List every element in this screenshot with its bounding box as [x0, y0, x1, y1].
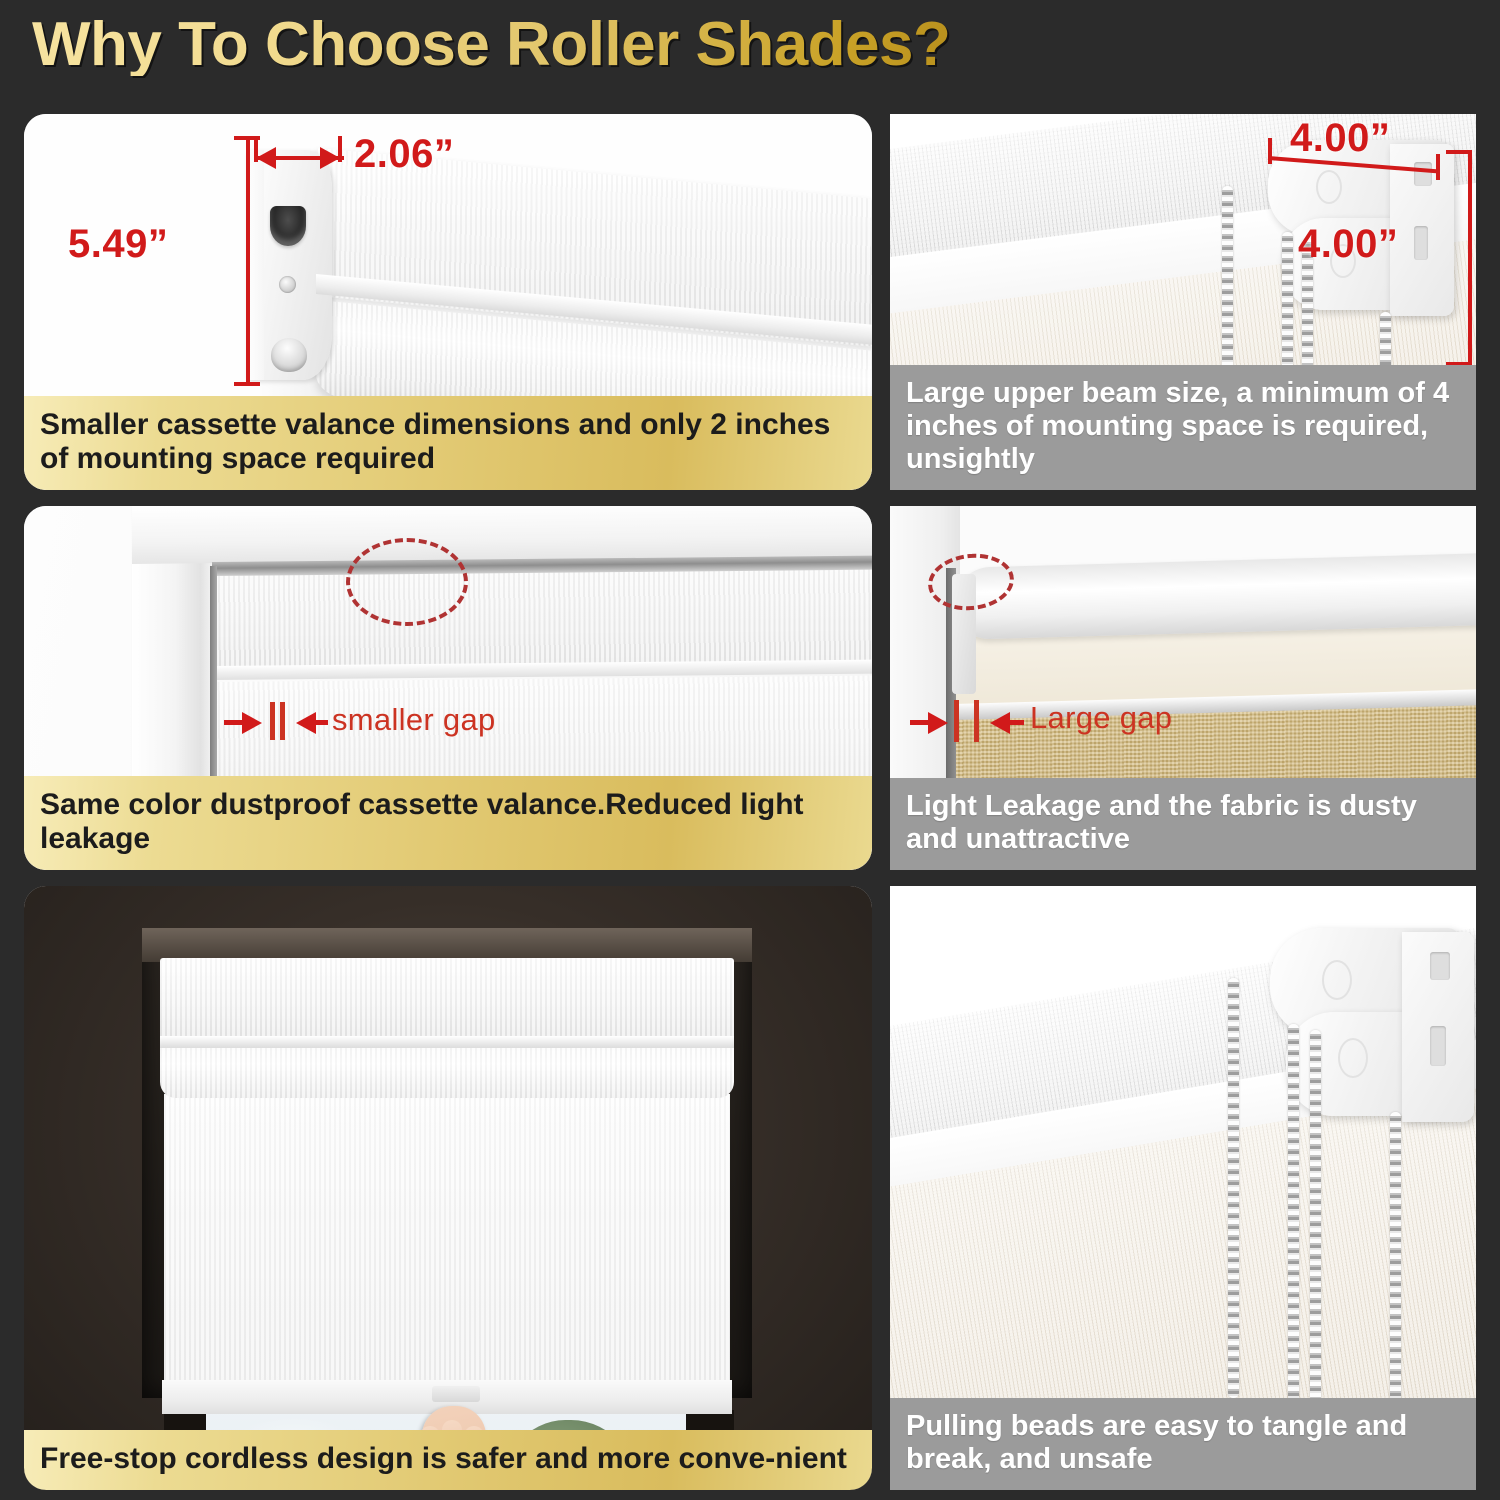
beads-bracket-mark-upper	[1322, 960, 1352, 1000]
panel-1-smaller-cassette[interactable]: 2.06” 5.49” Smaller cassette valance dim…	[24, 114, 872, 490]
page-title: Why To Choose Roller Shades?	[32, 14, 950, 76]
shade-valance	[160, 958, 734, 1040]
gap4-arrow-right	[990, 712, 1010, 734]
dimension2-height-label: 4.00”	[1298, 222, 1398, 267]
gap-label-smaller: smaller gap	[332, 702, 496, 738]
bead-chain-4	[1390, 1112, 1401, 1402]
highlight-circle-icon	[346, 538, 468, 626]
gap-tick-left	[270, 702, 275, 740]
gap-tick-right	[280, 702, 285, 740]
gap-arrow-right	[296, 712, 316, 734]
panel-1-caption: Smaller cassette valance dimensions and …	[24, 396, 872, 490]
shade-pull-tab	[432, 1386, 480, 1402]
gap4-tick-right	[974, 700, 979, 742]
panel-cell-5: Free-stop cordless design is safer and m…	[0, 880, 884, 1500]
beads-bracket-mark-lower	[1338, 1038, 1368, 1078]
shade-valance-lip	[160, 1036, 734, 1048]
valance-screw-lower	[271, 338, 307, 372]
bead-chain-1	[1228, 978, 1239, 1398]
panel-6-pulling-beads[interactable]: Pulling beads are easy to tangle and bre…	[890, 886, 1476, 1490]
shade-fabric	[164, 1094, 730, 1386]
valance-screw-upper	[279, 276, 296, 293]
dim-arrow-width-right	[320, 147, 340, 169]
panel-3-caption: Same color dustproof cassette valance.Re…	[24, 776, 872, 870]
panel-5-image	[24, 886, 872, 1490]
shade-roll	[160, 1046, 734, 1098]
panel-cell-3: smaller gap Same color dustproof cassett…	[0, 500, 884, 880]
panel-cell-4: Large gap Light Leakage and the fabric i…	[884, 500, 1500, 880]
panel-4-caption: Light Leakage and the fabric is dusty an…	[890, 778, 1476, 870]
dim2-tick-width-right	[1436, 154, 1440, 180]
gap-arrow-left-tail	[224, 720, 246, 725]
valance-cord-hole	[270, 206, 306, 246]
panel-6-caption: Pulling beads are easy to tangle and bre…	[890, 1398, 1476, 1490]
window-shade-upper	[214, 566, 872, 674]
bead-chain-2	[1288, 1024, 1299, 1402]
panel-3-smaller-gap[interactable]: smaller gap Same color dustproof cassett…	[24, 506, 872, 870]
gap-label-large: Large gap	[1030, 700, 1172, 736]
title-bar: Why To Choose Roller Shades?	[0, 0, 1500, 108]
dimension-height-label: 5.49”	[68, 222, 168, 267]
panel-cell-6: Pulling beads are easy to tangle and bre…	[884, 880, 1500, 1500]
dim-arrow-width-left	[256, 147, 276, 169]
bead-chain-3	[1310, 1030, 1321, 1402]
gap4-arrow-left-tail	[910, 720, 932, 725]
window-frame-horizontal	[132, 506, 872, 564]
gap-arrow-right-tail	[314, 720, 328, 725]
leak-roller-tube	[954, 552, 1476, 640]
panel-2-large-beam[interactable]: 4.00” 4.00” Large upper beam size, a min…	[890, 114, 1476, 490]
dim2-line-height	[1468, 150, 1472, 366]
panel-4-light-leakage[interactable]: Large gap Light Leakage and the fabric i…	[890, 506, 1476, 870]
dimension-width-label: 2.06”	[354, 132, 454, 177]
dim-line-height	[246, 136, 250, 386]
gap4-arrow-right-tail	[1008, 720, 1024, 725]
beam-bracket-slot-lower	[1414, 226, 1428, 260]
window-recess-top	[142, 928, 752, 962]
panel-2-caption: Large upper beam size, a minimum of 4 in…	[890, 365, 1476, 490]
comparison-grid: 2.06” 5.49” Smaller cassette valance dim…	[0, 108, 1500, 1500]
panel-cell-2: 4.00” 4.00” Large upper beam size, a min…	[884, 108, 1500, 500]
beam-bracket-mark-upper	[1316, 170, 1342, 204]
beads-bracket-slot-lower	[1430, 1026, 1446, 1066]
gap4-tick-left	[954, 700, 959, 742]
dimension2-width-label: 4.00”	[1290, 116, 1390, 161]
beam-bracket-slot-upper	[1414, 162, 1432, 186]
panel-cell-1: 2.06” 5.49” Smaller cassette valance dim…	[0, 108, 884, 500]
beads-bracket-slot-upper	[1430, 952, 1450, 980]
panel-5-cordless-design[interactable]: Free-stop cordless design is safer and m…	[24, 886, 872, 1490]
panel-5-caption: Free-stop cordless design is safer and m…	[24, 1430, 872, 1490]
